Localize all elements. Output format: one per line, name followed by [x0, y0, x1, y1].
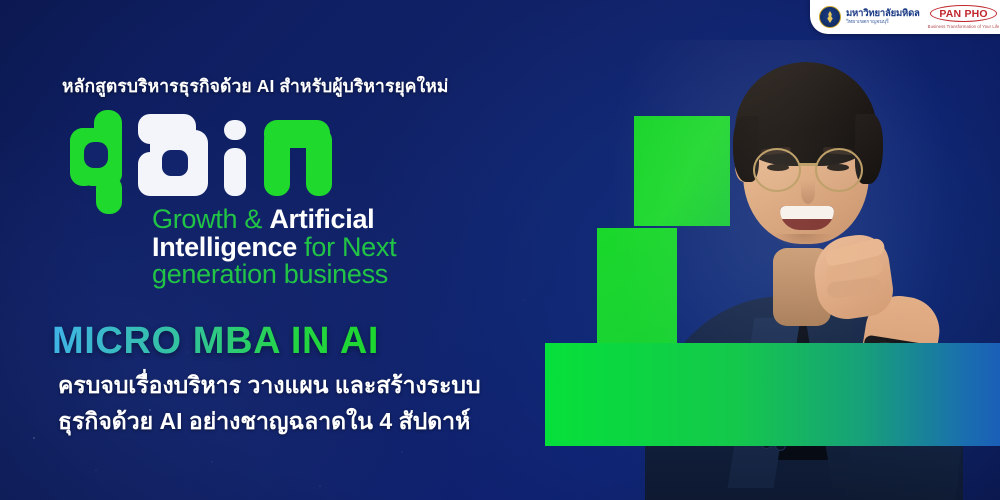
wordmark-letter-i	[224, 120, 246, 196]
subcopy-line-1: ครบจบเรื่องบริหาร วางแผน และสร้างระบบ	[58, 368, 481, 404]
promo-banner: มหาวิทยาลัยมหิดล วิทยาเขตกาญจนบุรี PAN P…	[0, 0, 1000, 500]
gain-wordmark	[66, 106, 386, 214]
tagline-for-next: for Next	[297, 232, 396, 262]
copy-column: หลักสูตรบริหารธุรกิจด้วย AI สำหรับผู้บริ…	[0, 0, 560, 500]
tagline-intelligence: Intelligence	[152, 232, 297, 262]
tagline-growth: Growth &	[152, 204, 269, 234]
panpho-logo: PAN PHO Business Transformation of Your …	[928, 5, 1000, 29]
mahidol-name: มหาวิทยาลัยมหิดล	[846, 9, 920, 19]
page-title: MICRO MBA IN AI	[52, 320, 379, 363]
subcopy-line-2: ธุรกิจด้วย AI อย่างชาญฉลาดใน 4 สัปดาห์	[58, 404, 470, 440]
mahidol-crest-icon	[819, 6, 841, 28]
tagline-generation-business: generation business	[152, 259, 388, 289]
wordmark-letter-g	[70, 110, 122, 214]
partner-logo-plate: มหาวิทยาลัยมหิดล วิทยาเขตกาญจนบุรี PAN P…	[810, 0, 1000, 34]
mahidol-campus: วิทยาเขตกาญจนบุรี	[846, 20, 920, 25]
wordmark-letter-a	[138, 114, 208, 196]
thai-kicker: หลักสูตรบริหารธุรกิจด้วย AI สำหรับผู้บริ…	[62, 72, 482, 100]
panpho-tagline: Business Transformation of Your Life	[928, 24, 1000, 29]
green-to-blue-gradient-bar	[545, 343, 1000, 446]
panpho-oval-frame: PAN PHO	[930, 5, 996, 22]
gain-wordmark-svg	[66, 106, 386, 214]
panpho-wordmark: PAN PHO	[939, 8, 987, 20]
gain-acronym-expansion: Growth & Artificial Intelligence for Nex…	[152, 206, 482, 289]
mahidol-logo-text: มหาวิทยาลัยมหิดล วิทยาเขตกาญจนบุรี	[846, 9, 920, 26]
tagline-row-3: generation business	[152, 261, 482, 289]
tagline-row-1: Growth & Artificial	[152, 206, 482, 234]
tagline-artificial: Artificial	[269, 204, 374, 234]
tagline-row-2: Intelligence for Next	[152, 234, 482, 262]
wordmark-letter-n	[264, 120, 332, 196]
